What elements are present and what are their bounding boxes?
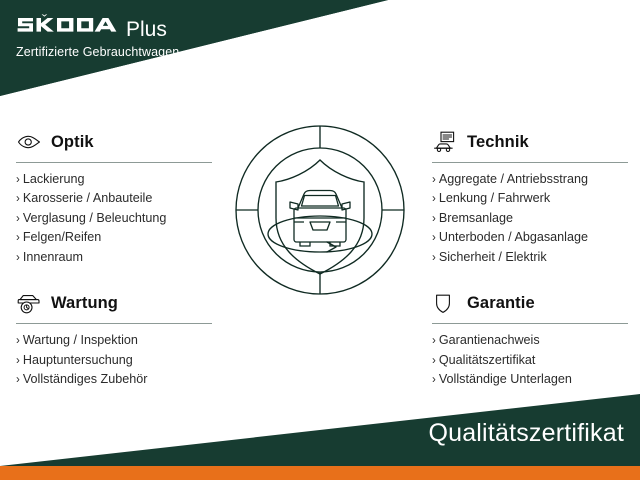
list-item-label: Verglasung / Beleuchtung — [23, 209, 167, 228]
section-garantie-header: Garantie — [432, 289, 628, 317]
orange-accent-bar — [0, 466, 640, 480]
car-document-icon — [432, 130, 458, 154]
footer-title: Qualitätszertifikat — [0, 412, 624, 454]
list-item-label: Felgen/Reifen — [23, 228, 101, 247]
list-item[interactable]: ›Unterboden / Abgasanlage — [432, 228, 628, 247]
section-wartung-title: Wartung — [51, 295, 118, 312]
section-technik-header: Technik — [432, 128, 628, 156]
section-wartung-list: ›Wartung / Inspektion ›Hauptuntersuchung… — [16, 331, 212, 389]
list-item[interactable]: ›Innenraum — [16, 248, 212, 267]
section-garantie-list: ›Garantienachweis ›Qualitätszertifikat ›… — [432, 331, 628, 389]
list-item[interactable]: ›Karosserie / Anbauteile — [16, 189, 212, 208]
list-item-label: Innenraum — [23, 248, 83, 267]
brand-suffix: Plus — [126, 19, 167, 40]
list-item-label: Qualitätszertifikat — [439, 351, 536, 370]
list-item-label: Karosserie / Anbauteile — [23, 189, 153, 208]
list-item-label: Wartung / Inspektion — [23, 331, 138, 350]
brand-wordmark — [16, 14, 120, 36]
chevron-right-icon: › — [16, 211, 20, 228]
list-item-label: Bremsanlage — [439, 209, 513, 228]
list-item[interactable]: ›Sicherheit / Elektrik — [432, 248, 628, 267]
chevron-right-icon: › — [432, 211, 436, 228]
chevron-right-icon: › — [432, 191, 436, 208]
list-item[interactable]: ›Felgen/Reifen — [16, 228, 212, 247]
brand-logo-row: Plus — [16, 14, 179, 40]
left-column: Optik ›Lackierung ›Karosserie / Anbautei… — [16, 128, 212, 390]
chevron-right-icon: › — [16, 191, 20, 208]
chevron-right-icon: › — [432, 353, 436, 370]
chevron-right-icon: › — [432, 333, 436, 350]
list-item[interactable]: ›Hauptuntersuchung — [16, 351, 212, 370]
list-item[interactable]: ›Vollständiges Zubehör — [16, 370, 212, 389]
list-item-label: Lenkung / Fahrwerk — [439, 189, 550, 208]
section-optik-list: ›Lackierung ›Karosserie / Anbauteile ›Ve… — [16, 170, 212, 267]
section-optik: Optik ›Lackierung ›Karosserie / Anbautei… — [16, 128, 212, 267]
list-item[interactable]: ›Aggregate / Antriebsstrang — [432, 170, 628, 189]
list-item[interactable]: ›Wartung / Inspektion — [16, 331, 212, 350]
chevron-right-icon: › — [16, 250, 20, 267]
section-technik-divider — [432, 162, 628, 163]
chevron-right-icon: › — [432, 250, 436, 267]
section-optik-title: Optik — [51, 134, 94, 151]
list-item-label: Sicherheit / Elektrik — [439, 248, 547, 267]
right-column: Technik ›Aggregate / Antriebsstrang ›Len… — [432, 128, 628, 390]
brand-tagline: Zertifizierte Gebrauchtwagen — [16, 46, 179, 60]
chevron-right-icon: › — [16, 353, 20, 370]
list-item[interactable]: ›Verglasung / Beleuchtung — [16, 209, 212, 228]
list-item-label: Aggregate / Antriebsstrang — [439, 170, 588, 189]
list-item[interactable]: ›Lackierung — [16, 170, 212, 189]
section-garantie: Garantie ›Garantienachweis ›Qualitätszer… — [432, 289, 628, 389]
list-item-label: Vollständige Unterlagen — [439, 370, 572, 389]
shield-icon — [432, 291, 458, 315]
list-item[interactable]: ›Vollständige Unterlagen — [432, 370, 628, 389]
list-item[interactable]: ›Bremsanlage — [432, 209, 628, 228]
section-wartung-divider — [16, 323, 212, 324]
list-item-label: Lackierung — [23, 170, 85, 189]
list-item-label: Hauptuntersuchung — [23, 351, 133, 370]
eye-icon — [16, 130, 42, 154]
car-service-clock-icon — [16, 291, 42, 315]
brand-logo: Plus Zertifizierte Gebrauchtwagen — [16, 14, 179, 60]
section-garantie-divider — [432, 323, 628, 324]
section-technik-list: ›Aggregate / Antriebsstrang ›Lenkung / F… — [432, 170, 628, 267]
section-optik-header: Optik — [16, 128, 212, 156]
shield-car-target-icon — [232, 122, 408, 298]
section-garantie-title: Garantie — [467, 295, 535, 312]
section-wartung-header: Wartung — [16, 289, 212, 317]
certificate-page: Plus Zertifizierte Gebrauchtwagen Optik … — [0, 0, 640, 480]
section-optik-divider — [16, 162, 212, 163]
chevron-right-icon: › — [16, 172, 20, 189]
list-item-label: Garantienachweis — [439, 331, 540, 350]
skoda-wordmark-icon — [16, 14, 120, 36]
list-item[interactable]: ›Lenkung / Fahrwerk — [432, 189, 628, 208]
chevron-right-icon: › — [16, 230, 20, 247]
section-wartung: Wartung ›Wartung / Inspektion ›Hauptunte… — [16, 289, 212, 389]
list-item-label: Vollständiges Zubehör — [23, 370, 148, 389]
chevron-right-icon: › — [432, 230, 436, 247]
chevron-right-icon: › — [16, 333, 20, 350]
list-item[interactable]: ›Qualitätszertifikat — [432, 351, 628, 370]
list-item[interactable]: ›Garantienachweis — [432, 331, 628, 350]
section-technik-title: Technik — [467, 134, 529, 151]
chevron-right-icon: › — [432, 172, 436, 189]
chevron-right-icon: › — [16, 372, 20, 389]
list-item-label: Unterboden / Abgasanlage — [439, 228, 588, 247]
section-technik: Technik ›Aggregate / Antriebsstrang ›Len… — [432, 128, 628, 267]
chevron-right-icon: › — [432, 372, 436, 389]
